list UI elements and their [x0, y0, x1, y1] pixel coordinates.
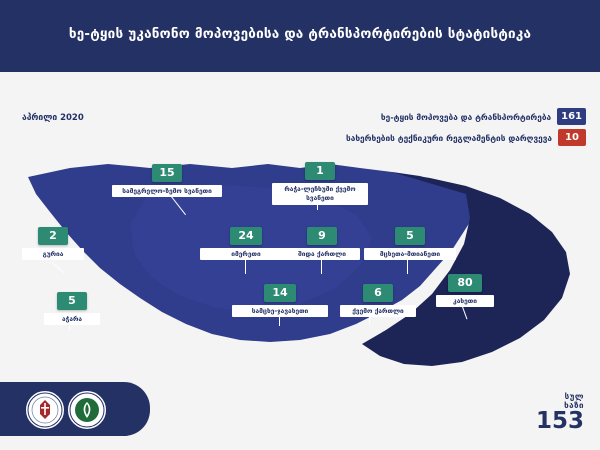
- header-bar: ხე-ტყის უკანონო მოპოვებისა და ტრანსპორტი…: [0, 0, 600, 72]
- agency-seal-icon: [68, 391, 106, 429]
- legend: ხე-ტყის მოპოვება და ტრანსპორტირება 161 ს…: [256, 108, 586, 150]
- state-emblem-seal-icon: [26, 391, 64, 429]
- region-value-guria: 2: [38, 227, 68, 245]
- region-marker-kvemo-kartli[interactable]: 6 ქვემო ქართლი: [340, 284, 416, 317]
- region-marker-samtskhe[interactable]: 14 სამცხე-ჯავახეთი: [232, 284, 328, 317]
- region-marker-samegrelo[interactable]: 15 სამეგრელო-ზემო სვანეთი: [112, 164, 222, 197]
- legend-value-sawmill: 10: [558, 129, 586, 146]
- region-label-imereti: იმერეთი: [200, 248, 292, 260]
- region-marker-racha[interactable]: 1 რაჭა-ლეჩხუმი ქვემო სვანეთი: [272, 162, 368, 205]
- footer-logo-panel: [0, 382, 150, 436]
- region-value-shida-kartli: 9: [307, 227, 337, 245]
- page-title: ხე-ტყის უკანონო მოპოვებისა და ტრანსპორტი…: [0, 26, 600, 42]
- region-label-samtskhe: სამცხე-ჯავახეთი: [232, 305, 328, 317]
- region-value-kakheti: 80: [448, 274, 482, 292]
- region-label-kvemo-kartli: ქვემო ქართლი: [340, 305, 416, 317]
- region-label-samegrelo: სამეგრელო-ზემო სვანეთი: [112, 185, 222, 197]
- region-marker-guria[interactable]: 2 გურია: [22, 227, 84, 260]
- state-emblem-svg: [27, 392, 63, 428]
- region-value-samegrelo: 15: [152, 164, 182, 182]
- region-marker-shida-kartli[interactable]: 9 შიდა ქართლი: [284, 227, 360, 260]
- legend-label-harvest: ხე-ტყის მოპოვება და ტრანსპორტირება: [381, 112, 551, 122]
- region-value-samtskhe: 14: [264, 284, 296, 302]
- total-block: სულ ხაზი 153: [536, 392, 584, 432]
- region-value-imereti: 24: [230, 227, 262, 245]
- leader-line-imereti: [245, 258, 246, 274]
- leader-line-mtskheta: [407, 258, 408, 274]
- legend-row-harvest: ხე-ტყის მოპოვება და ტრანსპორტირება 161: [256, 108, 586, 125]
- region-label-adjara: აჭარა: [44, 313, 100, 325]
- total-value: 153: [536, 410, 584, 432]
- region-marker-adjara[interactable]: 5 აჭარა: [44, 292, 100, 325]
- region-label-kakheti: კახეთი: [436, 295, 494, 307]
- region-label-racha: რაჭა-ლეჩხუმი ქვემო სვანეთი: [272, 183, 368, 205]
- region-value-kvemo-kartli: 6: [363, 284, 393, 302]
- region-value-mtskheta: 5: [395, 227, 425, 245]
- legend-label-sawmill: სახერხების ტექნიკური რეგლამენტის დარღვევ…: [346, 133, 552, 143]
- date-label: აპრილი 2020: [22, 113, 84, 123]
- infographic-page: ხე-ტყის უკანონო მოპოვებისა და ტრანსპორტი…: [0, 0, 600, 450]
- leader-line-shida-kartli: [321, 258, 322, 274]
- region-label-guria: გურია: [22, 248, 84, 260]
- total-label-line1: სულ: [536, 392, 584, 401]
- region-marker-mtskheta[interactable]: 5 მცხეთა-მთიანეთი: [364, 227, 456, 260]
- agency-seal-svg: [69, 392, 105, 428]
- region-value-adjara: 5: [57, 292, 87, 310]
- content-area: 15 სამეგრელო-ზემო სვანეთი 1 რაჭა-ლეჩხუმი…: [0, 72, 600, 450]
- region-label-mtskheta: მცხეთა-მთიანეთი: [364, 248, 456, 260]
- legend-value-harvest: 161: [557, 108, 586, 125]
- region-value-racha: 1: [305, 162, 335, 180]
- region-marker-kakheti[interactable]: 80 კახეთი: [436, 274, 494, 307]
- region-label-shida-kartli: შიდა ქართლი: [284, 248, 360, 260]
- region-marker-imereti[interactable]: 24 იმერეთი: [200, 227, 292, 260]
- legend-row-sawmill: სახერხების ტექნიკური რეგლამენტის დარღვევ…: [256, 129, 586, 146]
